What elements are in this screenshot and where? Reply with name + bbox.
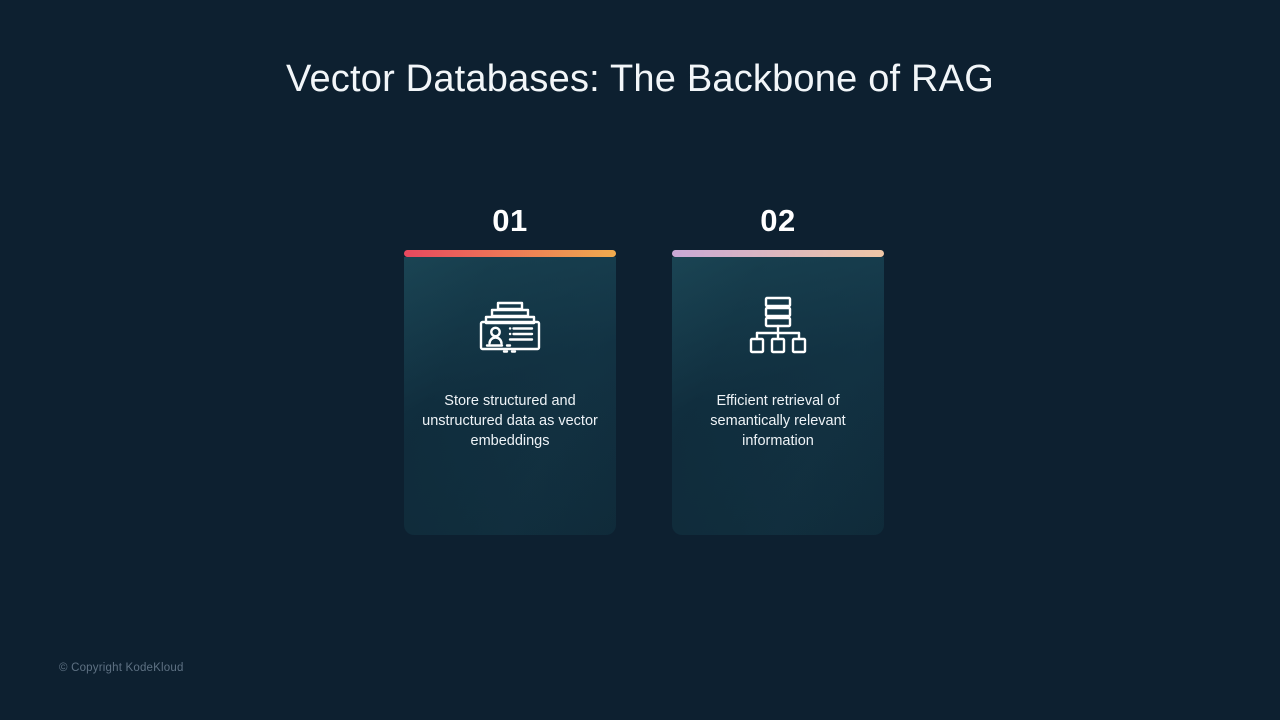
feature-card-01[interactable]: 01 [404,205,616,535]
cards-row: 01 [404,205,884,535]
card-description-02: Efficient retrieval of semantically rele… [685,391,871,451]
card-body-02: Efficient retrieval of semantically rele… [672,257,884,535]
database-hierarchy-icon [744,293,812,355]
data-records-card-icon [476,293,544,355]
footer-copyright: © Copyright KodeKloud [59,662,184,674]
card-number-01: 01 [492,205,527,236]
feature-card-02[interactable]: 02 [672,205,884,535]
card-description-01: Store structured and unstructured data a… [417,391,603,451]
page-title: Vector Databases: The Backbone of RAG [0,58,1280,101]
card-number-02: 02 [760,205,795,236]
slide-root: Vector Databases: The Backbone of RAG 01 [0,0,1280,720]
card-accent-bar-01 [404,250,616,257]
card-accent-bar-02 [672,250,884,257]
card-body-01: Store structured and unstructured data a… [404,257,616,535]
